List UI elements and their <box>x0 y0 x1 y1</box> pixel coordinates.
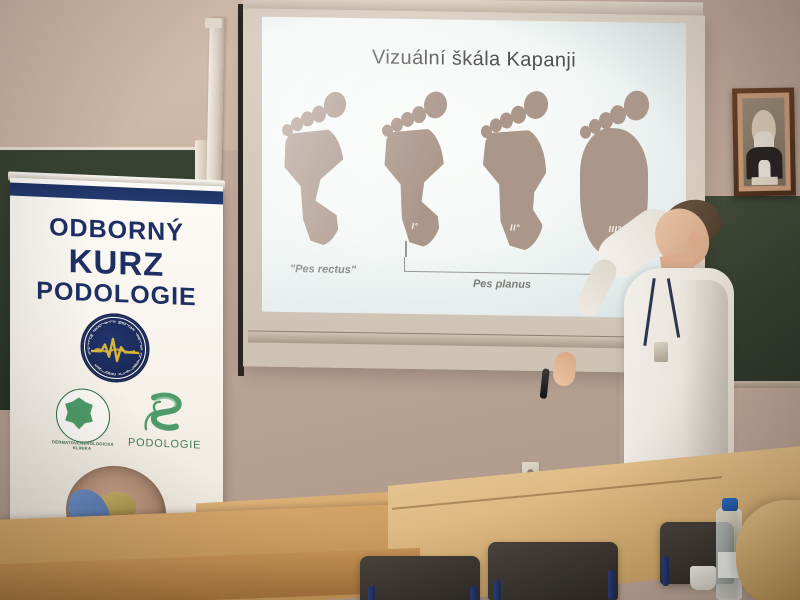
id-badge <box>654 342 668 362</box>
chair-2-leg <box>494 580 501 600</box>
chair-1-leg <box>368 586 375 600</box>
banner-line-3: PODOLOGIE <box>10 278 223 312</box>
lecture-hall-photo: Vizuální škála Kapanji I° <box>0 0 800 600</box>
podologie-logo: PODOLOGIE <box>128 388 200 455</box>
clinic-logo-caption: DERMATOVENEROLOGICKÁ KLINIKA <box>52 439 112 452</box>
ear <box>688 232 701 249</box>
university-seal-logo: SIGILLUM FACULTATIS MEDICAE TERTIAE UNIV… <box>82 314 148 383</box>
chair-2-leg-right <box>608 570 615 600</box>
ribbon-foot-icon <box>142 389 188 439</box>
chair-1 <box>360 556 480 600</box>
podologie-logo-caption: PODOLOGIE <box>128 436 200 451</box>
dermatology-clinic-logo: DERMATOVENEROLOGICKÁ KLINIKA <box>52 387 112 450</box>
rollup-banner: ODBORNÝ KURZ PODOLOGIE SIGILLUM FACULTAT… <box>10 178 223 557</box>
chair-3-leg <box>662 556 669 586</box>
bottle-cap <box>722 498 738 511</box>
wall-rail-cap <box>205 18 222 28</box>
chair-2 <box>488 542 618 600</box>
ecg-snake-icon <box>89 334 141 364</box>
banner-accent-stripe <box>10 183 223 205</box>
cup <box>690 566 716 590</box>
chair-1-leg-right <box>470 586 477 600</box>
